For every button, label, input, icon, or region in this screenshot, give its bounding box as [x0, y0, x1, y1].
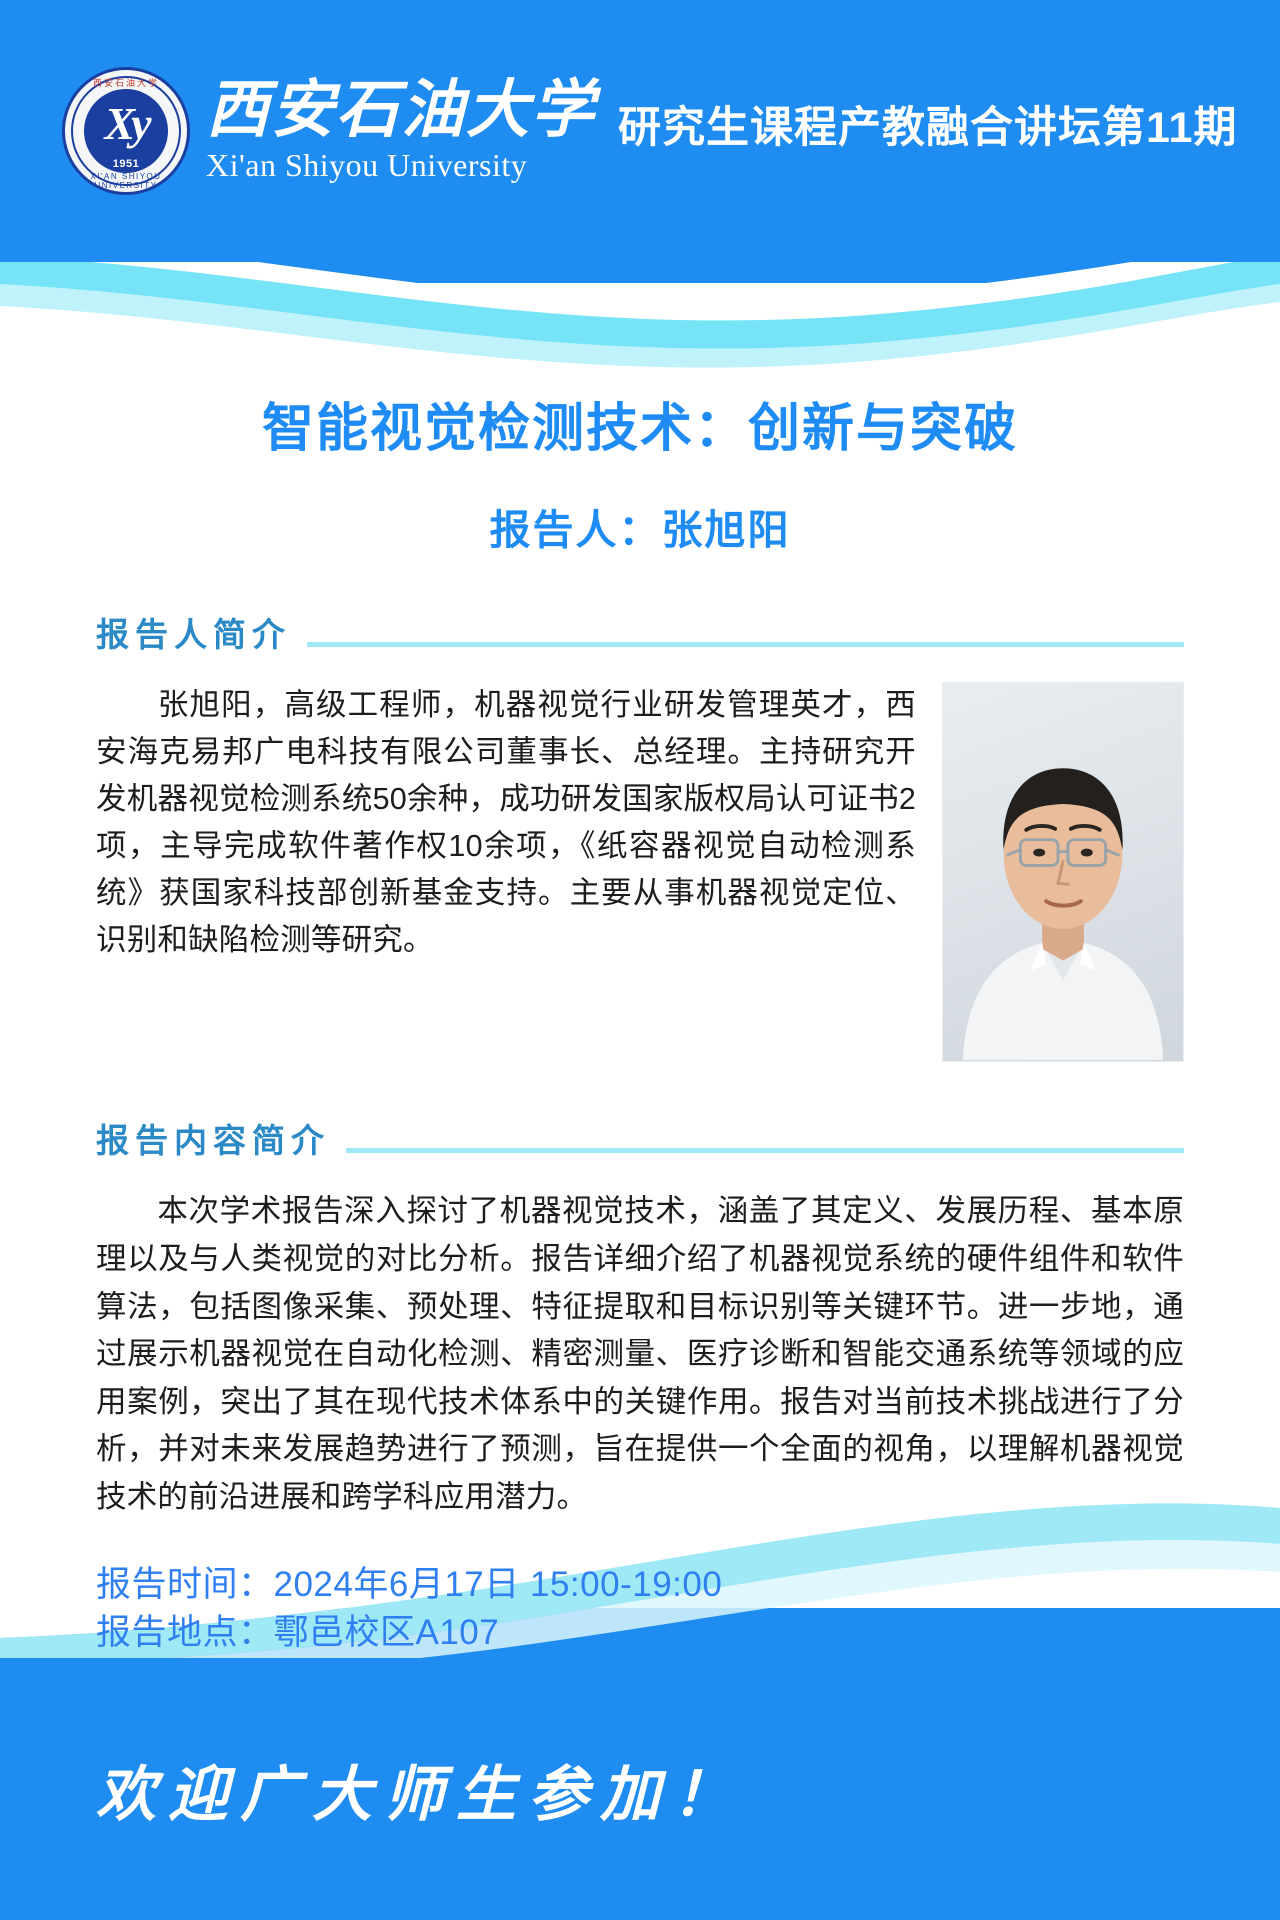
- section-divider: [346, 1148, 1184, 1153]
- abstract-text: 本次学术报告深入探讨了机器视觉技术，涵盖了其定义、发展历程、基本原理以及与人类视…: [96, 1188, 1184, 1521]
- welcome-message: 欢迎广大师生参加！: [96, 1746, 744, 1833]
- poster-content: 智能视觉检测技术：创新与突破 报告人：张旭阳 报告人简介 张旭阳，高级工程师，机…: [0, 0, 1280, 1656]
- section-header-speaker-bio: 报告人简介: [96, 608, 1184, 656]
- section-divider: [307, 642, 1184, 647]
- page-title: 智能视觉检测技术：创新与突破: [96, 398, 1184, 460]
- event-location: 报告地点：鄠邑校区A107: [96, 1609, 1184, 1656]
- event-meta-block: 报告时间：2024年6月17日 15:00-19:00 报告地点：鄠邑校区A10…: [96, 1561, 1184, 1656]
- poster-footer: 欢迎广大师生参加！: [0, 1658, 1280, 1920]
- speaker-bio-body: 张旭阳，高级工程师，机器视觉行业研发管理英才，西安海克易邦广电科技有限公司董事长…: [96, 688, 916, 957]
- event-time: 报告时间：2024年6月17日 15:00-19:00: [96, 1561, 1184, 1608]
- speaker-line: 报告人：张旭阳: [96, 496, 1184, 556]
- section-title-speaker-bio: 报告人简介: [96, 608, 291, 656]
- portrait-illustration-icon: [943, 683, 1183, 1060]
- poster-root: 西安石油大学 Xy 1951 XI'AN SHIYOU UNIVERSITY 西…: [0, 0, 1280, 1920]
- section-title-abstract: 报告内容简介: [96, 1114, 330, 1162]
- section-header-abstract: 报告内容简介: [96, 1114, 1184, 1162]
- speaker-portrait: [942, 682, 1184, 1062]
- abstract-body: 本次学术报告深入探讨了机器视觉技术，涵盖了其定义、发展历程、基本原理以及与人类视…: [96, 1194, 1184, 1513]
- speaker-bio-text: 张旭阳，高级工程师，机器视觉行业研发管理英才，西安海克易邦广电科技有限公司董事长…: [96, 682, 916, 964]
- speaker-bio-block: 张旭阳，高级工程师，机器视觉行业研发管理英才，西安海克易邦广电科技有限公司董事长…: [96, 682, 1184, 1062]
